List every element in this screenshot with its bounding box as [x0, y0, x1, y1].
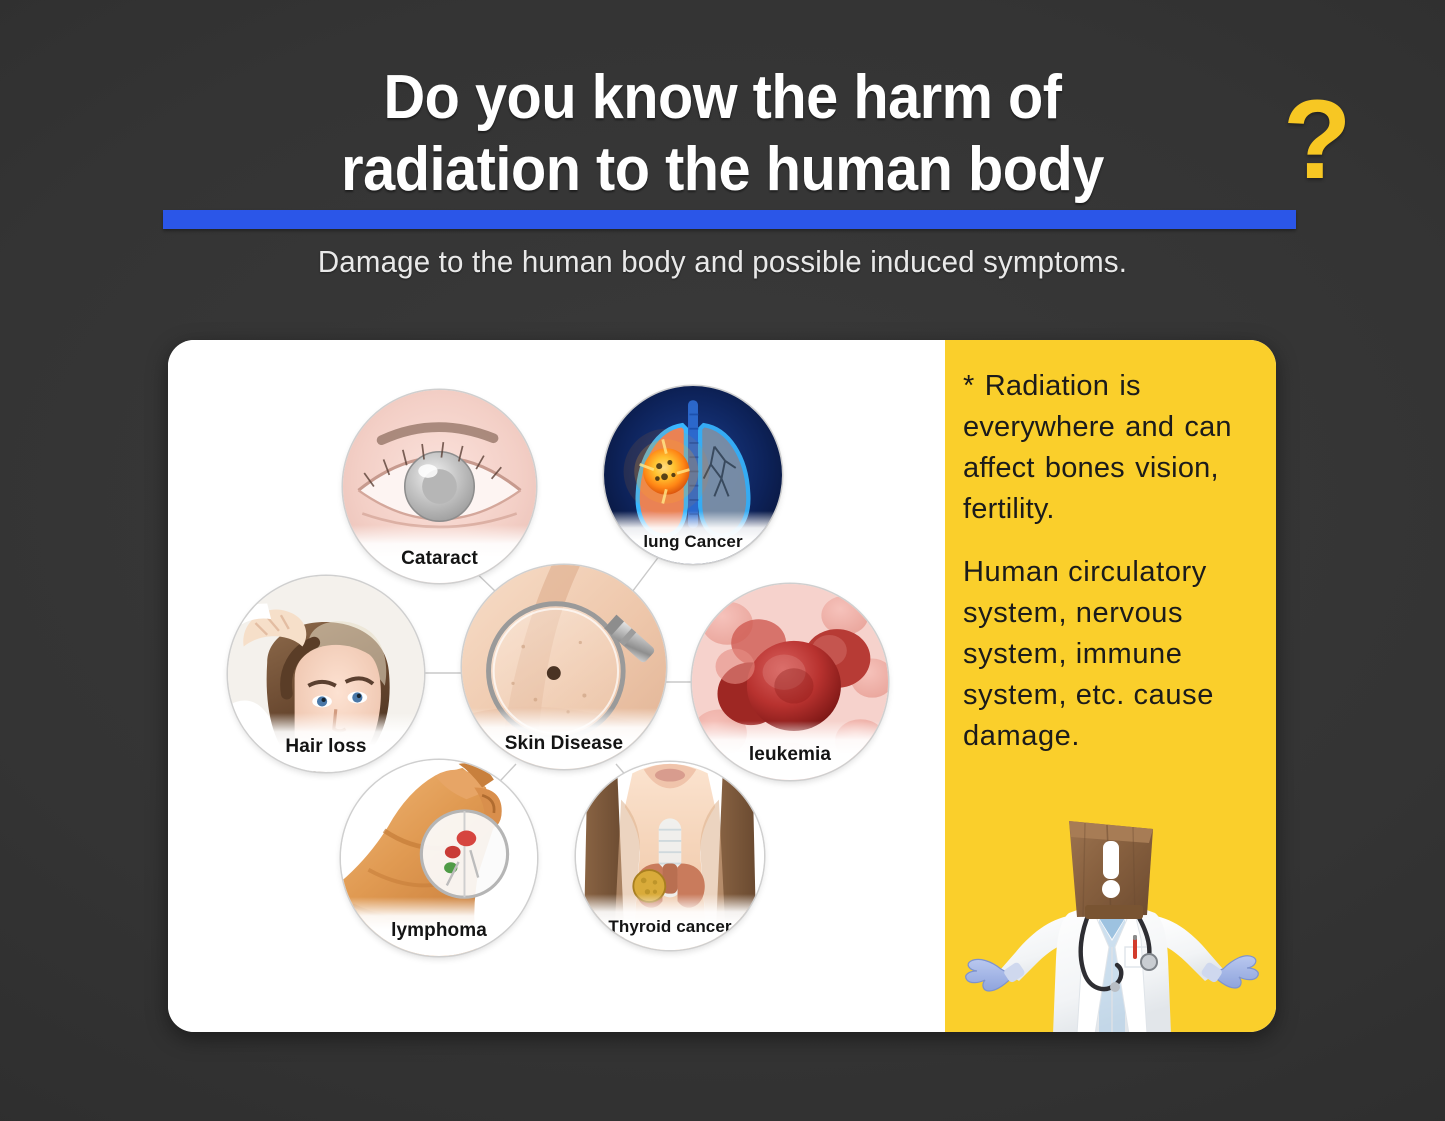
- node-thyroid-cancer[interactable]: Thyroid cancer: [576, 762, 764, 950]
- info-panel: * Radiation is everywhere and can affect…: [945, 340, 1276, 1032]
- content-card: Cataract: [168, 340, 1276, 1032]
- info-paragraph-2: Human circulatory system, nervous system…: [963, 552, 1260, 757]
- node-cataract[interactable]: Cataract: [343, 390, 536, 583]
- doctor-paper-bag-shrug-icon: [957, 819, 1267, 1032]
- title-underline-bar: [163, 210, 1296, 229]
- node-leukemia[interactable]: leukemia: [692, 584, 888, 780]
- node-label: lymphoma: [341, 897, 537, 956]
- node-lung-cancer[interactable]: lung Cancer: [604, 386, 782, 564]
- node-label: lung Cancer: [604, 511, 782, 564]
- info-paragraph-1: * Radiation is everywhere and can affect…: [963, 366, 1260, 530]
- node-hair-loss[interactable]: Hair loss: [228, 576, 424, 772]
- symptom-diagram: Cataract: [168, 340, 945, 1032]
- title-line-1: Do you know the harm of: [51, 62, 1395, 134]
- node-skin-disease[interactable]: Skin Disease: [462, 565, 666, 769]
- page-subtitle: Damage to the human body and possible in…: [36, 244, 1409, 280]
- question-mark-icon: ?: [1283, 84, 1351, 196]
- page-title: Do you know the harm of radiation to the…: [0, 62, 1445, 206]
- node-lymphoma[interactable]: lymphoma: [341, 760, 537, 956]
- title-line-2: radiation to the human body: [51, 134, 1395, 206]
- node-label: Thyroid cancer: [576, 894, 764, 950]
- page-header: Do you know the harm of radiation to the…: [0, 0, 1445, 310]
